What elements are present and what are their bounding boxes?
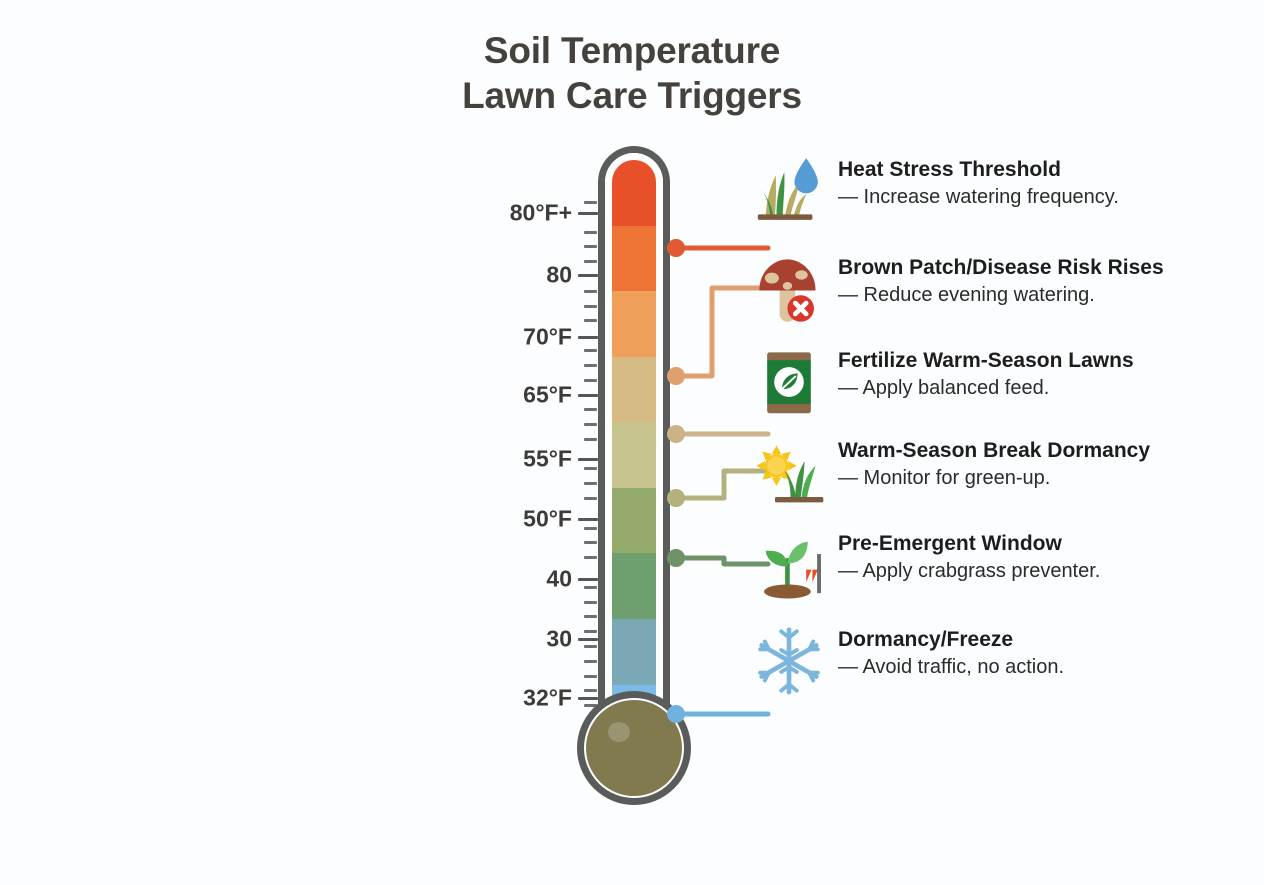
grass-water-drop-icon [750, 152, 828, 230]
scale-tick-minor [584, 497, 597, 500]
thermometer-band-olive-green [612, 488, 656, 554]
callout-title-heat-stress: Heat Stress Threshold [838, 158, 1168, 182]
scale-tick-minor [584, 423, 597, 426]
scale-tick-minor [584, 527, 597, 530]
scale-label-2: 70°F [523, 324, 572, 351]
scale-tick-minor [584, 305, 597, 308]
scale-tick-major [578, 458, 598, 461]
page-title: Soil Temperature Lawn Care Triggers [0, 28, 1264, 118]
scale-tick-minor [584, 482, 597, 485]
callout-text-pre-emergent: Pre-Emergent Window— Apply crabgrass pre… [838, 532, 1168, 583]
thermometer [598, 146, 670, 806]
scale-tick-minor [584, 408, 597, 411]
callout-title-break-dormancy: Warm-Season Break Dormancy [838, 439, 1168, 463]
callout-subtitle-pre-emergent: — Apply crabgrass preventer. [838, 559, 1168, 583]
scale-label-1: 80 [546, 262, 572, 289]
callout-title-pre-emergent: Pre-Emergent Window [838, 532, 1168, 556]
scale-tick-minor [584, 231, 597, 234]
scale-label-0: 80°F+ [510, 200, 572, 227]
callout-text-dormancy-freeze: Dormancy/Freeze— Avoid traffic, no actio… [838, 628, 1168, 679]
scale-tick-minor [584, 675, 597, 678]
scale-tick-major [578, 578, 598, 581]
scale-label-7: 30 [546, 626, 572, 653]
callout-title-dormancy-freeze: Dormancy/Freeze [838, 628, 1168, 652]
scale-tick-minor [584, 660, 597, 663]
scale-tick-minor [584, 467, 597, 470]
title-line-2: Lawn Care Triggers [0, 73, 1264, 118]
callout-subtitle-dormancy-freeze: — Avoid traffic, no action. [838, 655, 1168, 679]
scale-tick-major [578, 638, 598, 641]
scale-tick-minor [584, 601, 597, 604]
thermometer-band-teal [612, 619, 656, 685]
callout-subtitle-heat-stress: — Increase watering frequency. [838, 185, 1168, 209]
scale-tick-minor [584, 615, 597, 618]
callout-subtitle-fertilize: — Apply balanced feed. [838, 376, 1168, 400]
thermometer-band-extreme-heat [612, 160, 656, 226]
callout-subtitle-brown-patch: — Reduce evening watering. [838, 283, 1168, 307]
scale-tick-minor [584, 556, 597, 559]
thermometer-band-high-heat [612, 226, 656, 292]
scale-tick-minor [584, 586, 597, 589]
scale-tick-major [578, 336, 598, 339]
callout-title-fertilize: Fertilize Warm-Season Lawns [838, 349, 1168, 373]
thermometer-band-mild-tan [612, 357, 656, 423]
callout-text-fertilize: Fertilize Warm-Season Lawns— Apply balan… [838, 349, 1168, 400]
callout-text-break-dormancy: Warm-Season Break Dormancy— Monitor for … [838, 439, 1168, 490]
scale-label-5: 50°F [523, 506, 572, 533]
mushroom-disease-icon [750, 250, 828, 328]
scale-tick-minor [584, 319, 597, 322]
seedling-barrier-icon [750, 526, 828, 604]
scale-tick-minor [584, 630, 597, 633]
thermometer-band-warm [612, 291, 656, 357]
thermometer-color-bands [612, 160, 656, 750]
title-line-1: Soil Temperature [0, 28, 1264, 73]
scale-tick-minor [584, 245, 597, 248]
scale-tick-major [578, 697, 598, 700]
callout-text-heat-stress: Heat Stress Threshold— Increase watering… [838, 158, 1168, 209]
scale-tick-minor [584, 349, 597, 352]
scale-tick-minor [584, 201, 597, 204]
temperature-scale: 80°F+8070°F65°F55°F50°F403032°F [470, 146, 598, 746]
callout-title-brown-patch: Brown Patch/Disease Risk Rises [838, 256, 1168, 280]
scale-tick-minor [584, 645, 597, 648]
scale-tick-minor [584, 260, 597, 263]
scale-label-6: 40 [546, 566, 572, 593]
scale-tick-minor [584, 364, 597, 367]
thermometer-band-khaki [612, 422, 656, 488]
scale-tick-minor [584, 290, 597, 293]
sun-grass-icon [750, 433, 828, 511]
scale-tick-minor [584, 438, 597, 441]
callout-text-brown-patch: Brown Patch/Disease Risk Rises— Reduce e… [838, 256, 1168, 307]
scale-label-8: 32°F [523, 685, 572, 712]
scale-tick-minor [584, 541, 597, 544]
scale-tick-major [578, 274, 598, 277]
fertilizer-bag-icon [750, 343, 828, 421]
thermometer-band-green [612, 553, 656, 619]
scale-label-4: 55°F [523, 446, 572, 473]
scale-tick-minor [584, 379, 597, 382]
thermometer-bulb-highlight [608, 722, 630, 742]
scale-tick-major [578, 518, 598, 521]
soil-temperature-infographic: Soil Temperature Lawn Care Triggers 80°F… [0, 0, 1264, 848]
callout-subtitle-break-dormancy: — Monitor for green-up. [838, 466, 1168, 490]
scale-tick-major [578, 394, 598, 397]
snowflake-icon [750, 622, 828, 700]
scale-tick-major [578, 212, 598, 215]
scale-label-3: 65°F [523, 382, 572, 409]
scale-tick-minor [584, 689, 597, 692]
